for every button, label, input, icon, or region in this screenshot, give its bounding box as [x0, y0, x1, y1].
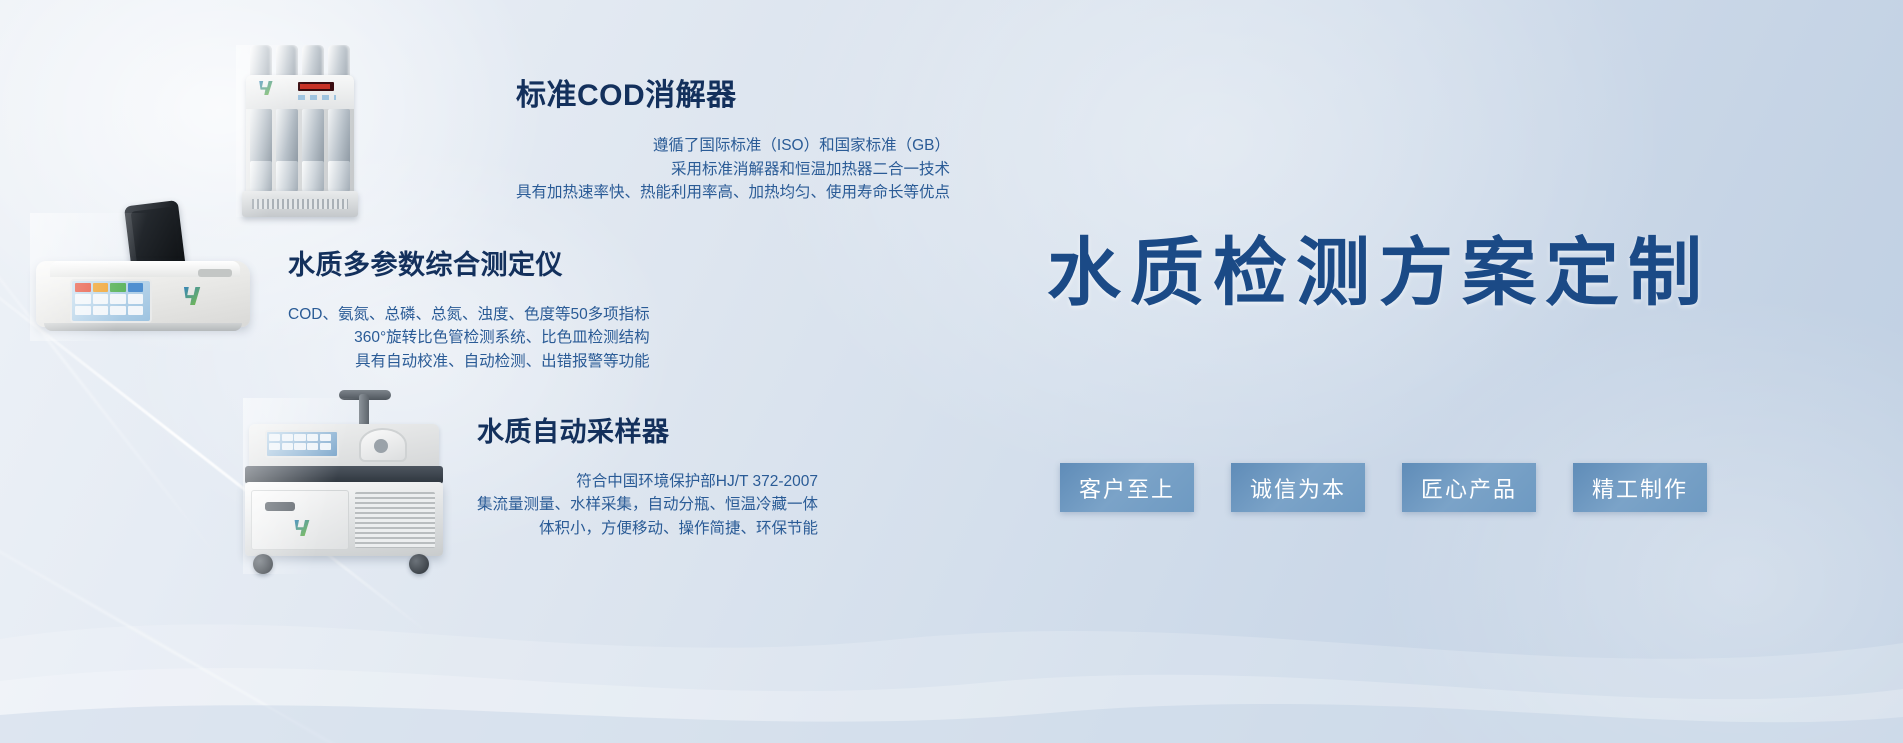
product-description: COD、氨氮、总磷、总氮、浊度、色度等50多项指标 360°旋转比色管检测系统、…	[288, 303, 650, 374]
slogan-badge-integrity[interactable]: 诚信为本	[1231, 463, 1365, 512]
product-image-multi-parameter-analyzer	[30, 213, 258, 341]
slogan-badge-precision[interactable]: 精工制作	[1573, 463, 1707, 512]
product-block-multi-parameter-analyzer: 水质多参数综合测定仪 COD、氨氮、总磷、总氮、浊度、色度等50多项指标 360…	[30, 213, 650, 373]
product-text-multi-parameter-analyzer: 水质多参数综合测定仪 COD、氨氮、总磷、总氮、浊度、色度等50多项指标 360…	[258, 213, 650, 373]
product-desc-line: 具有加热速率快、热能利用率高、加热均匀、使用寿命长等优点	[516, 181, 950, 205]
product-text-cod-digester: 标准COD消解器 遵循了国际标准（ISO）和国家标准（GB） 采用标准消解器和恒…	[364, 45, 950, 205]
caster-wheel-icon	[409, 554, 429, 574]
product-desc-line: 360°旋转比色管检测系统、比色皿检测结构	[288, 326, 650, 350]
product-title: 水质自动采样器	[477, 418, 818, 448]
sampler-keypad	[269, 434, 331, 450]
caster-wheel-icon	[253, 554, 273, 574]
peristaltic-pump-icon	[359, 428, 407, 462]
product-block-cod-digester: 标准COD消解器 遵循了国际标准（ISO）和国家标准（GB） 采用标准消解器和恒…	[236, 45, 950, 217]
product-text-auto-sampler: 水质自动采样器 符合中国环境保护部HJ/T 372-2007 集流量测量、水样采…	[453, 398, 818, 540]
product-title: 标准COD消解器	[516, 79, 950, 112]
product-desc-line: 集流量测量、水样采集，自动分瓶、恒温冷藏一体	[477, 493, 818, 517]
product-image-cod-digester	[236, 45, 364, 217]
product-desc-line: 符合中国环境保护部HJ/T 372-2007	[477, 470, 818, 494]
product-desc-line: 体积小，方便移动、操作简捷、环保节能	[477, 517, 818, 541]
product-description: 符合中国环境保护部HJ/T 372-2007 集流量测量、水样采集，自动分瓶、恒…	[477, 470, 818, 541]
product-desc-line: 具有自动校准、自动检测、出错报警等功能	[288, 350, 650, 374]
product-title: 水质多参数综合测定仪	[288, 251, 650, 281]
banner-headline: 水质检测方案定制	[1047, 236, 1711, 310]
product-description: 遵循了国际标准（ISO）和国家标准（GB） 采用标准消解器和恒温加热器二合一技术…	[516, 134, 950, 205]
background-glow-bottom-right	[1380, 300, 1903, 743]
product-desc-line: COD、氨氮、总磷、总氮、浊度、色度等50多项指标	[288, 303, 650, 327]
water-quality-banner: 标准COD消解器 遵循了国际标准（ISO）和国家标准（GB） 采用标准消解器和恒…	[0, 0, 1903, 743]
product-block-auto-sampler: 水质自动采样器 符合中国环境保护部HJ/T 372-2007 集流量测量、水样采…	[243, 398, 818, 574]
cod-flask-row	[250, 161, 350, 195]
slogan-badge-group: 客户至上 诚信为本 匠心产品 精工制作	[1060, 463, 1707, 512]
slogan-badge-craftsmanship[interactable]: 匠心产品	[1402, 463, 1536, 512]
product-desc-line: 遵循了国际标准（ISO）和国家标准（GB）	[516, 134, 950, 158]
product-desc-line: 采用标准消解器和恒温加热器二合一技术	[516, 158, 950, 182]
cod-tube-row	[250, 109, 350, 169]
analyzer-keypad	[75, 283, 143, 315]
product-image-auto-sampler	[243, 398, 453, 574]
slogan-badge-customer-first[interactable]: 客户至上	[1060, 463, 1194, 512]
